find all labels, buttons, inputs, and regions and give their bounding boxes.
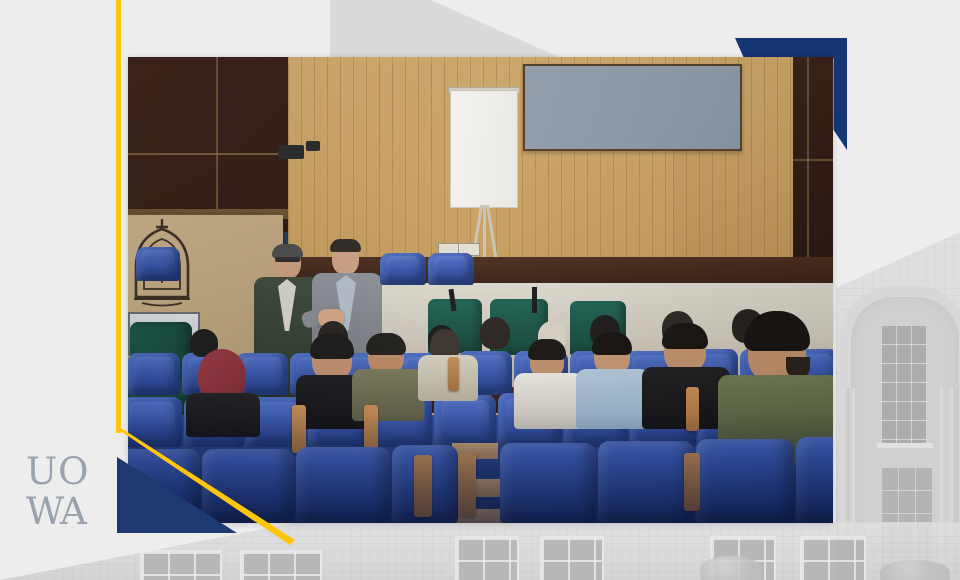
seat xyxy=(128,353,180,395)
seat-armrest xyxy=(364,405,378,453)
shrub xyxy=(700,556,762,580)
eyeglasses xyxy=(275,257,300,262)
front-seat xyxy=(796,437,833,523)
ceiling-speaker xyxy=(278,145,304,159)
audience-hair xyxy=(528,339,566,360)
logo-line-2: WA xyxy=(26,492,104,532)
seat xyxy=(428,253,474,285)
arch-balcony-ledge xyxy=(877,443,933,448)
audience-head xyxy=(480,317,510,349)
audience-torso xyxy=(186,393,260,437)
presenter-hair xyxy=(330,239,361,252)
facade-window xyxy=(800,536,866,580)
ceiling-speaker xyxy=(306,141,320,151)
projection-screen xyxy=(523,64,742,151)
facade-window xyxy=(455,536,519,580)
flipchart-board xyxy=(450,90,518,208)
yellow-accent-vertical xyxy=(116,0,121,433)
audience-member-white-shirt xyxy=(516,343,582,429)
seat-armrest xyxy=(458,453,476,517)
front-seat xyxy=(500,443,596,523)
front-seat xyxy=(296,447,390,523)
audience-hair xyxy=(592,332,632,355)
audience-hair xyxy=(310,333,354,359)
shrub xyxy=(880,560,950,580)
facade-window xyxy=(540,536,604,580)
poster-canvas: UO WA xyxy=(0,0,960,580)
presenter-hair xyxy=(272,244,303,258)
seat-armrest xyxy=(686,387,699,431)
facade-window xyxy=(140,550,222,580)
seat-armrest xyxy=(292,405,306,453)
audience-torso xyxy=(576,369,650,429)
seat xyxy=(434,395,496,447)
seat-armrest xyxy=(448,357,459,391)
logo-line-1: UO xyxy=(26,452,104,492)
seat xyxy=(136,247,180,281)
seat-microphone xyxy=(532,287,537,313)
audience-torso xyxy=(514,373,584,429)
dark-wood-panel-left xyxy=(128,57,288,232)
dark-wood-panel-right xyxy=(793,57,833,257)
uowa-logo: UO WA xyxy=(26,452,104,534)
seat-armrest xyxy=(684,453,700,511)
facade-window xyxy=(240,550,322,580)
audience-hair xyxy=(662,323,708,349)
audience-torso xyxy=(352,369,424,421)
seat xyxy=(380,253,426,285)
lecture-hall-photo xyxy=(128,57,833,523)
arch-upper-window xyxy=(881,325,927,445)
seat-armrest xyxy=(414,455,432,517)
front-seat xyxy=(598,441,694,523)
front-seat xyxy=(696,439,794,523)
audience-hair xyxy=(366,333,406,355)
audience-member-hijab xyxy=(186,349,260,429)
audience-member-blue-shirt xyxy=(578,337,648,429)
